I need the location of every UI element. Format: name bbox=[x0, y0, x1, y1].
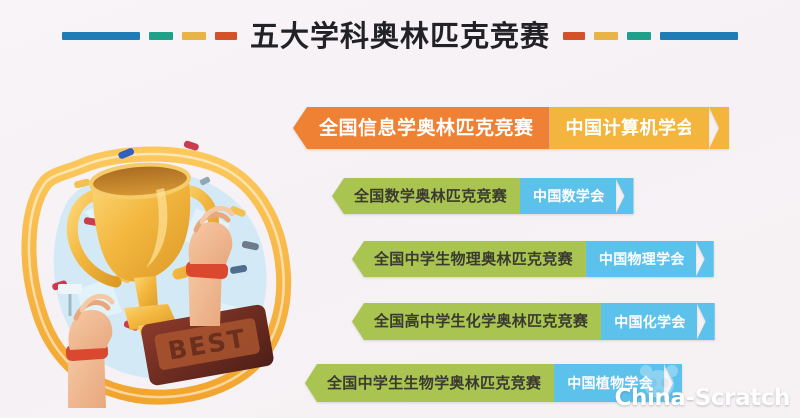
banner-biology-competition: 全国中学生生物学奥林匹克竞赛 bbox=[305, 364, 554, 402]
poster-canvas: 五大学科奥林匹克竞赛 bbox=[0, 0, 800, 418]
banner-physics[interactable]: 全国中学生物理奥林匹克竞赛 中国物理学会 bbox=[352, 241, 714, 277]
banner-chemistry-organizer-label: 中国化学会 bbox=[614, 315, 686, 329]
dash-blue-long-left bbox=[62, 32, 140, 40]
dash-gold-left bbox=[182, 32, 206, 40]
banner-informatics[interactable]: 全国信息学奥林匹克竞赛 中国计算机学会 bbox=[293, 107, 729, 149]
panda-logo-icon bbox=[636, 360, 682, 402]
banner-informatics-organizer: 中国计算机学会 bbox=[550, 107, 710, 149]
banner-informatics-competition-label: 全国信息学奥林匹克竞赛 bbox=[319, 119, 534, 138]
banner-chemistry-competition: 全国高中学生化学奥林匹克竞赛 bbox=[352, 303, 601, 340]
banner-mathematics-organizer-label: 中国数学会 bbox=[533, 189, 605, 203]
banner-informatics-organizer-label: 中国计算机学会 bbox=[566, 119, 696, 137]
dash-orange-left bbox=[215, 32, 237, 40]
dash-gold-right bbox=[594, 32, 618, 40]
title-dashes-right bbox=[563, 32, 738, 40]
banner-mathematics-tail bbox=[616, 178, 634, 214]
banner-physics-organizer-label: 中国物理学会 bbox=[599, 252, 685, 266]
banner-informatics-competition: 全国信息学奥林匹克竞赛 bbox=[293, 107, 550, 149]
banner-informatics-tail bbox=[709, 107, 729, 149]
banner-physics-tail bbox=[696, 241, 714, 277]
title-dashes-left bbox=[62, 32, 237, 40]
banner-mathematics-organizer: 中国数学会 bbox=[520, 178, 616, 214]
banner-chemistry-tail bbox=[697, 303, 715, 340]
banner-mathematics-competition-label: 全国数学奥林匹克竞赛 bbox=[354, 189, 507, 204]
dash-teal-right bbox=[627, 32, 651, 40]
dash-blue-long-right bbox=[660, 32, 738, 40]
trophy-illustration: BEST bbox=[6, 112, 298, 412]
page-title: 五大学科奥林匹克竞赛 bbox=[237, 22, 563, 51]
banner-physics-competition: 全国中学生物理奥林匹克竞赛 bbox=[352, 241, 586, 277]
banner-chemistry[interactable]: 全国高中学生化学奥林匹克竞赛 中国化学会 bbox=[352, 303, 715, 340]
banner-chemistry-competition-label: 全国高中学生化学奥林匹克竞赛 bbox=[374, 314, 588, 329]
banner-biology-competition-label: 全国中学生生物学奥林匹克竞赛 bbox=[327, 376, 541, 391]
dash-teal-left bbox=[149, 32, 173, 40]
banner-chemistry-organizer: 中国化学会 bbox=[601, 303, 697, 340]
banner-mathematics[interactable]: 全国数学奥林匹克竞赛 中国数学会 bbox=[332, 178, 634, 214]
banner-biology[interactable]: 全国中学生生物学奥林匹克竞赛 中国植物学会 bbox=[305, 364, 682, 402]
banner-physics-competition-label: 全国中学生物理奥林匹克竞赛 bbox=[374, 252, 573, 267]
banner-mathematics-competition: 全国数学奥林匹克竞赛 bbox=[332, 178, 520, 214]
banner-physics-organizer: 中国物理学会 bbox=[586, 241, 696, 277]
dash-orange-right bbox=[563, 32, 585, 40]
title-row: 五大学科奥林匹克竞赛 bbox=[0, 14, 800, 58]
